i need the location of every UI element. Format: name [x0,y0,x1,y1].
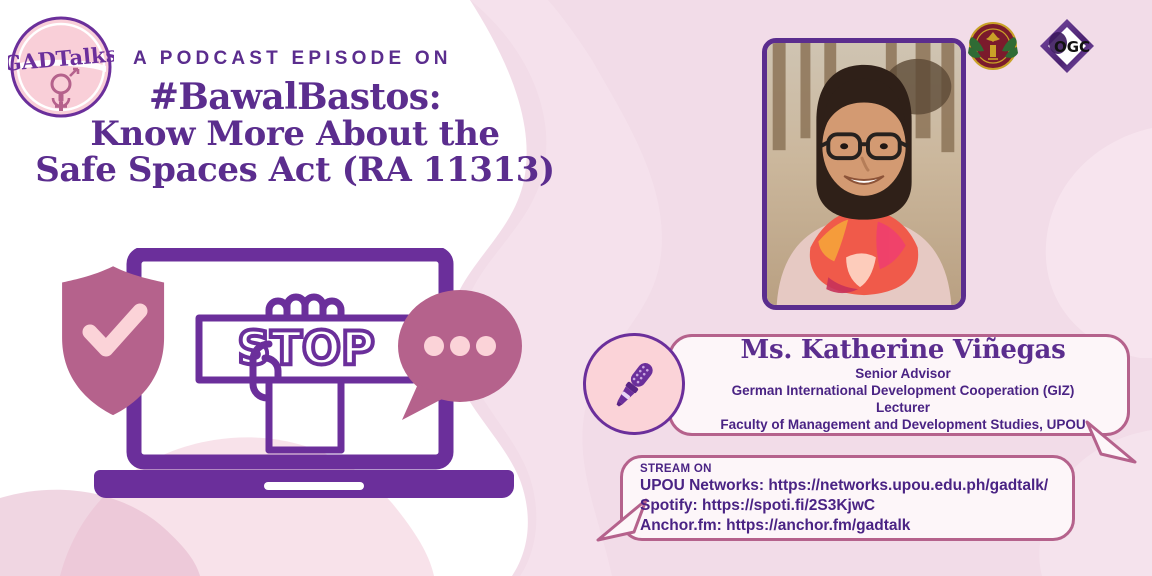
org-logos: OGC [962,14,1142,78]
microphone-icon [603,353,665,415]
title-line-1: #BawalBastos: [14,78,576,116]
speaker-role-line-4: Faculty of Management and Development St… [678,416,1128,433]
mic-badge [583,333,685,435]
title-line-2: Know More About the [14,116,576,152]
stop-sign-label: STOP [237,321,374,375]
ogc-logo: OGC [1036,15,1098,77]
stream-link-anchor-fm[interactable]: Anchor.fm: https://anchor.fm/gadtalk [640,516,1070,536]
speaker-name: Ms. Katherine Viñegas [678,336,1128,365]
stream-link-spotify[interactable]: Spotify: https://spoti.fi/2S3KjwC [640,496,1070,516]
stream-link-upou-networks[interactable]: UPOU Networks: https://networks.upou.edu… [640,476,1070,496]
page-title: #BawalBastos: Know More About the Safe S… [14,78,576,188]
speaker-photo [762,38,966,310]
speaker-info: Ms. Katherine Viñegas Senior Advisor Ger… [678,336,1128,433]
speech-bubble-dots-icon [398,290,522,420]
up-seal-logo [962,15,1024,77]
speaker-role-line-3: Lecturer [678,399,1128,416]
stream-links: STREAM ON UPOU Networks: https://network… [640,462,1070,536]
stream-on-label: STREAM ON [640,462,1070,476]
title-line-3: Safe Spaces Act (RA 11313) [14,152,576,188]
laptop-icon: STOP [62,248,546,514]
podcast-poster: GADTalks A PODCAST EPISODE ON #BawalBast… [0,0,1152,576]
svg-text:OGC: OGC [1054,38,1090,56]
stop-laptop-illustration: STOP [62,248,546,514]
shield-check-icon [62,266,164,415]
speaker-role-line-1: Senior Advisor [678,365,1128,382]
episode-kicker: A PODCAST EPISODE ON [133,48,452,70]
speaker-portrait-image [767,43,961,305]
speaker-role-line-2: German International Development Coopera… [678,382,1128,399]
